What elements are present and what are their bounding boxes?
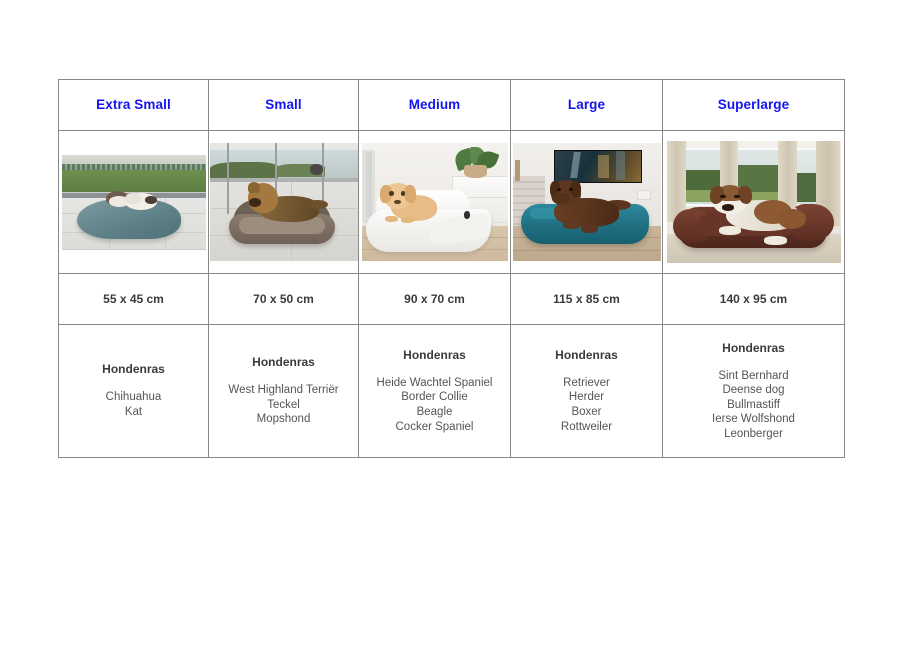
header-cell-medium: Medium — [359, 80, 511, 131]
photo-wrap-large — [511, 131, 662, 273]
breed-list-superlarge: Sint BernhardDeense dogBullmastiffIerse … — [663, 369, 844, 442]
breed-item: Retriever — [511, 376, 662, 391]
table-breeds-row: Hondenras ChihuahuaKat Hondenras West Hi… — [59, 325, 845, 458]
image-cell-large — [511, 131, 663, 274]
dimensions-superlarge: 140 x 95 cm — [663, 292, 844, 306]
breed-item: Teckel — [209, 398, 358, 413]
dog-bed-size-table: Extra Small Small Medium Large Superlarg… — [58, 79, 845, 458]
header-cell-large: Large — [511, 80, 663, 131]
breeds-cell-small: Hondenras West Highland TerriërTeckelMop… — [209, 325, 359, 458]
image-cell-medium — [359, 131, 511, 274]
photo-wrap-medium — [359, 131, 510, 273]
breed-item: Cocker Spaniel — [359, 420, 510, 435]
dimensions-extra-small: 55 x 45 cm — [59, 292, 208, 306]
image-cell-extra-small — [59, 131, 209, 274]
breed-item: Sint Bernhard — [663, 369, 844, 384]
dimensions-cell-superlarge: 140 x 95 cm — [663, 274, 845, 325]
photo-wrap-superlarge — [663, 131, 844, 273]
breeds-cell-extra-small: Hondenras ChihuahuaKat — [59, 325, 209, 458]
product-photo-small — [210, 143, 358, 261]
table-image-row — [59, 131, 845, 274]
breed-title-extra-small: Hondenras — [59, 362, 208, 376]
dimensions-cell-medium: 90 x 70 cm — [359, 274, 511, 325]
breeds-cell-large: Hondenras RetrieverHerderBoxerRottweiler — [511, 325, 663, 458]
header-cell-small: Small — [209, 80, 359, 131]
dimensions-cell-extra-small: 55 x 45 cm — [59, 274, 209, 325]
breed-item: Ierse Wolfshond — [663, 412, 844, 427]
breed-item: West Highland Terriër — [209, 383, 358, 398]
breed-item: Boxer — [511, 405, 662, 420]
breed-item: Mopshond — [209, 412, 358, 427]
breed-title-superlarge: Hondenras — [663, 341, 844, 355]
image-cell-small — [209, 131, 359, 274]
breeds-cell-medium: Hondenras Heide Wachtel SpanielBorder Co… — [359, 325, 511, 458]
breed-title-large: Hondenras — [511, 348, 662, 362]
photo-wrap-extra-small — [59, 131, 208, 273]
product-photo-extra-small — [62, 155, 206, 250]
size-name-medium: Medium — [359, 98, 510, 112]
dimensions-small: 70 x 50 cm — [209, 292, 358, 306]
table-header-row: Extra Small Small Medium Large Superlarg… — [59, 80, 845, 131]
breed-item: Bullmastiff — [663, 398, 844, 413]
photo-wrap-small — [209, 131, 358, 273]
breed-item: Border Collie — [359, 390, 510, 405]
breed-list-large: RetrieverHerderBoxerRottweiler — [511, 376, 662, 434]
breed-item: Chihuahua — [59, 390, 208, 405]
breed-item: Beagle — [359, 405, 510, 420]
breed-item: Herder — [511, 390, 662, 405]
dimensions-cell-small: 70 x 50 cm — [209, 274, 359, 325]
breed-list-extra-small: ChihuahuaKat — [59, 390, 208, 419]
breed-list-small: West Highland TerriërTeckelMopshond — [209, 383, 358, 427]
dimensions-medium: 90 x 70 cm — [359, 292, 510, 306]
header-cell-superlarge: Superlarge — [663, 80, 845, 131]
product-photo-large — [513, 143, 661, 261]
dimensions-large: 115 x 85 cm — [511, 292, 662, 306]
breed-title-small: Hondenras — [209, 355, 358, 369]
breed-item: Kat — [59, 405, 208, 420]
size-name-large: Large — [511, 98, 662, 112]
breeds-cell-superlarge: Hondenras Sint BernhardDeense dogBullmas… — [663, 325, 845, 458]
product-photo-medium — [362, 143, 508, 261]
breed-item: Leonberger — [663, 427, 844, 442]
breed-item: Deense dog — [663, 383, 844, 398]
breed-title-medium: Hondenras — [359, 348, 510, 362]
dimensions-cell-large: 115 x 85 cm — [511, 274, 663, 325]
size-name-superlarge: Superlarge — [663, 98, 844, 112]
breed-item: Heide Wachtel Spaniel — [359, 376, 510, 391]
breed-list-medium: Heide Wachtel SpanielBorder CollieBeagle… — [359, 376, 510, 434]
header-cell-extra-small: Extra Small — [59, 80, 209, 131]
size-name-extra-small: Extra Small — [59, 98, 208, 112]
image-cell-superlarge — [663, 131, 845, 274]
table-dimensions-row: 55 x 45 cm 70 x 50 cm 90 x 70 cm 115 x 8… — [59, 274, 845, 325]
product-photo-superlarge — [667, 141, 841, 263]
breed-item: Rottweiler — [511, 420, 662, 435]
size-name-small: Small — [209, 98, 358, 112]
